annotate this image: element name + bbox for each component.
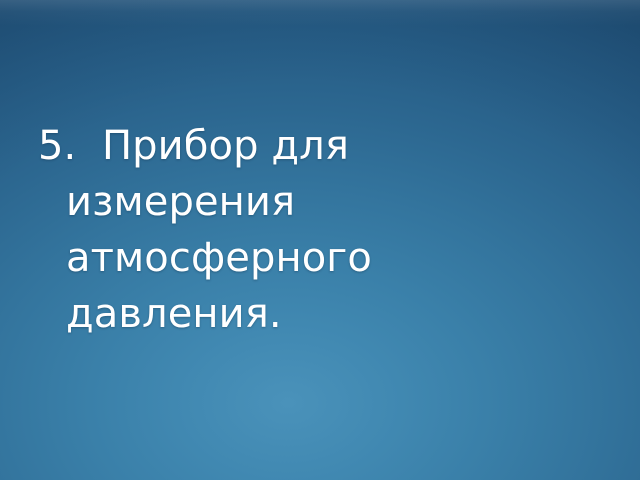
slide-body-text: 5. Прибор для измерения атмосферного дав… xyxy=(38,118,496,342)
presentation-slide: 5. Прибор для измерения атмосферного дав… xyxy=(0,0,640,480)
slide-content-area: 5. Прибор для измерения атмосферного дав… xyxy=(0,0,640,480)
